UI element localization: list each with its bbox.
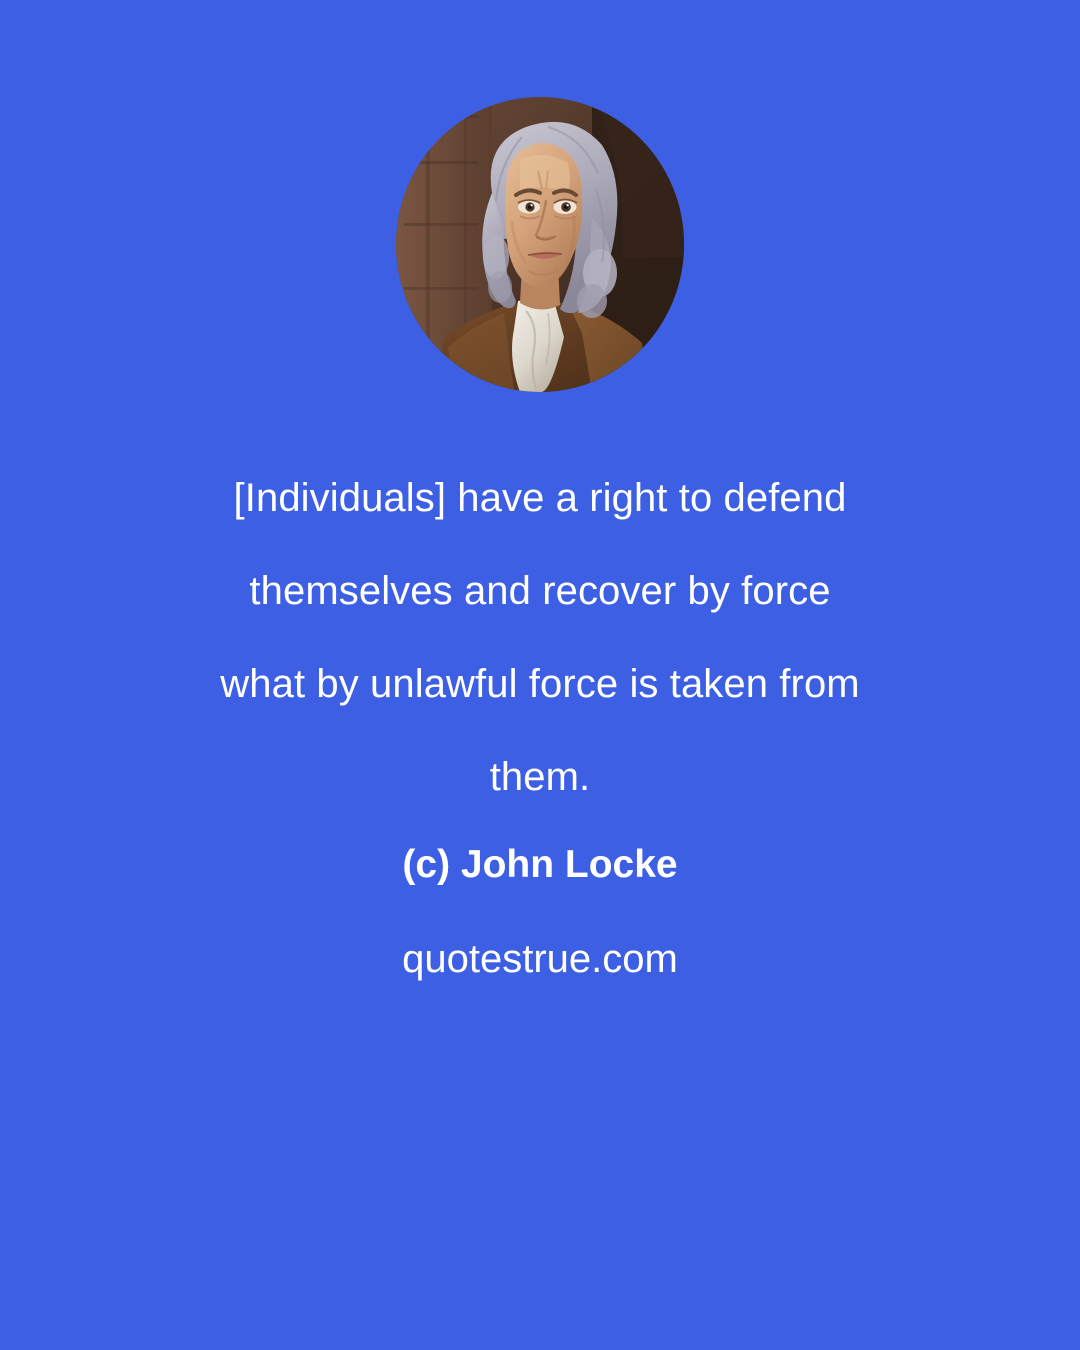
quote-text: [Individuals] have a right to defend the… xyxy=(60,452,1020,824)
quote-line: them. xyxy=(60,731,1020,824)
author-portrait-container xyxy=(396,97,684,392)
portrait-illustration xyxy=(396,97,684,392)
quote-line: what by unlawful force is taken from xyxy=(60,638,1020,731)
quote-attribution: (c) John Locke xyxy=(0,840,1080,890)
portrait-john-locke xyxy=(396,97,684,392)
quote-line: [Individuals] have a right to defend xyxy=(60,452,1020,545)
quote-line: themselves and recover by force xyxy=(60,545,1020,638)
quote-card: [Individuals] have a right to defend the… xyxy=(0,0,1080,1350)
source-website: quotestrue.com xyxy=(0,933,1080,985)
